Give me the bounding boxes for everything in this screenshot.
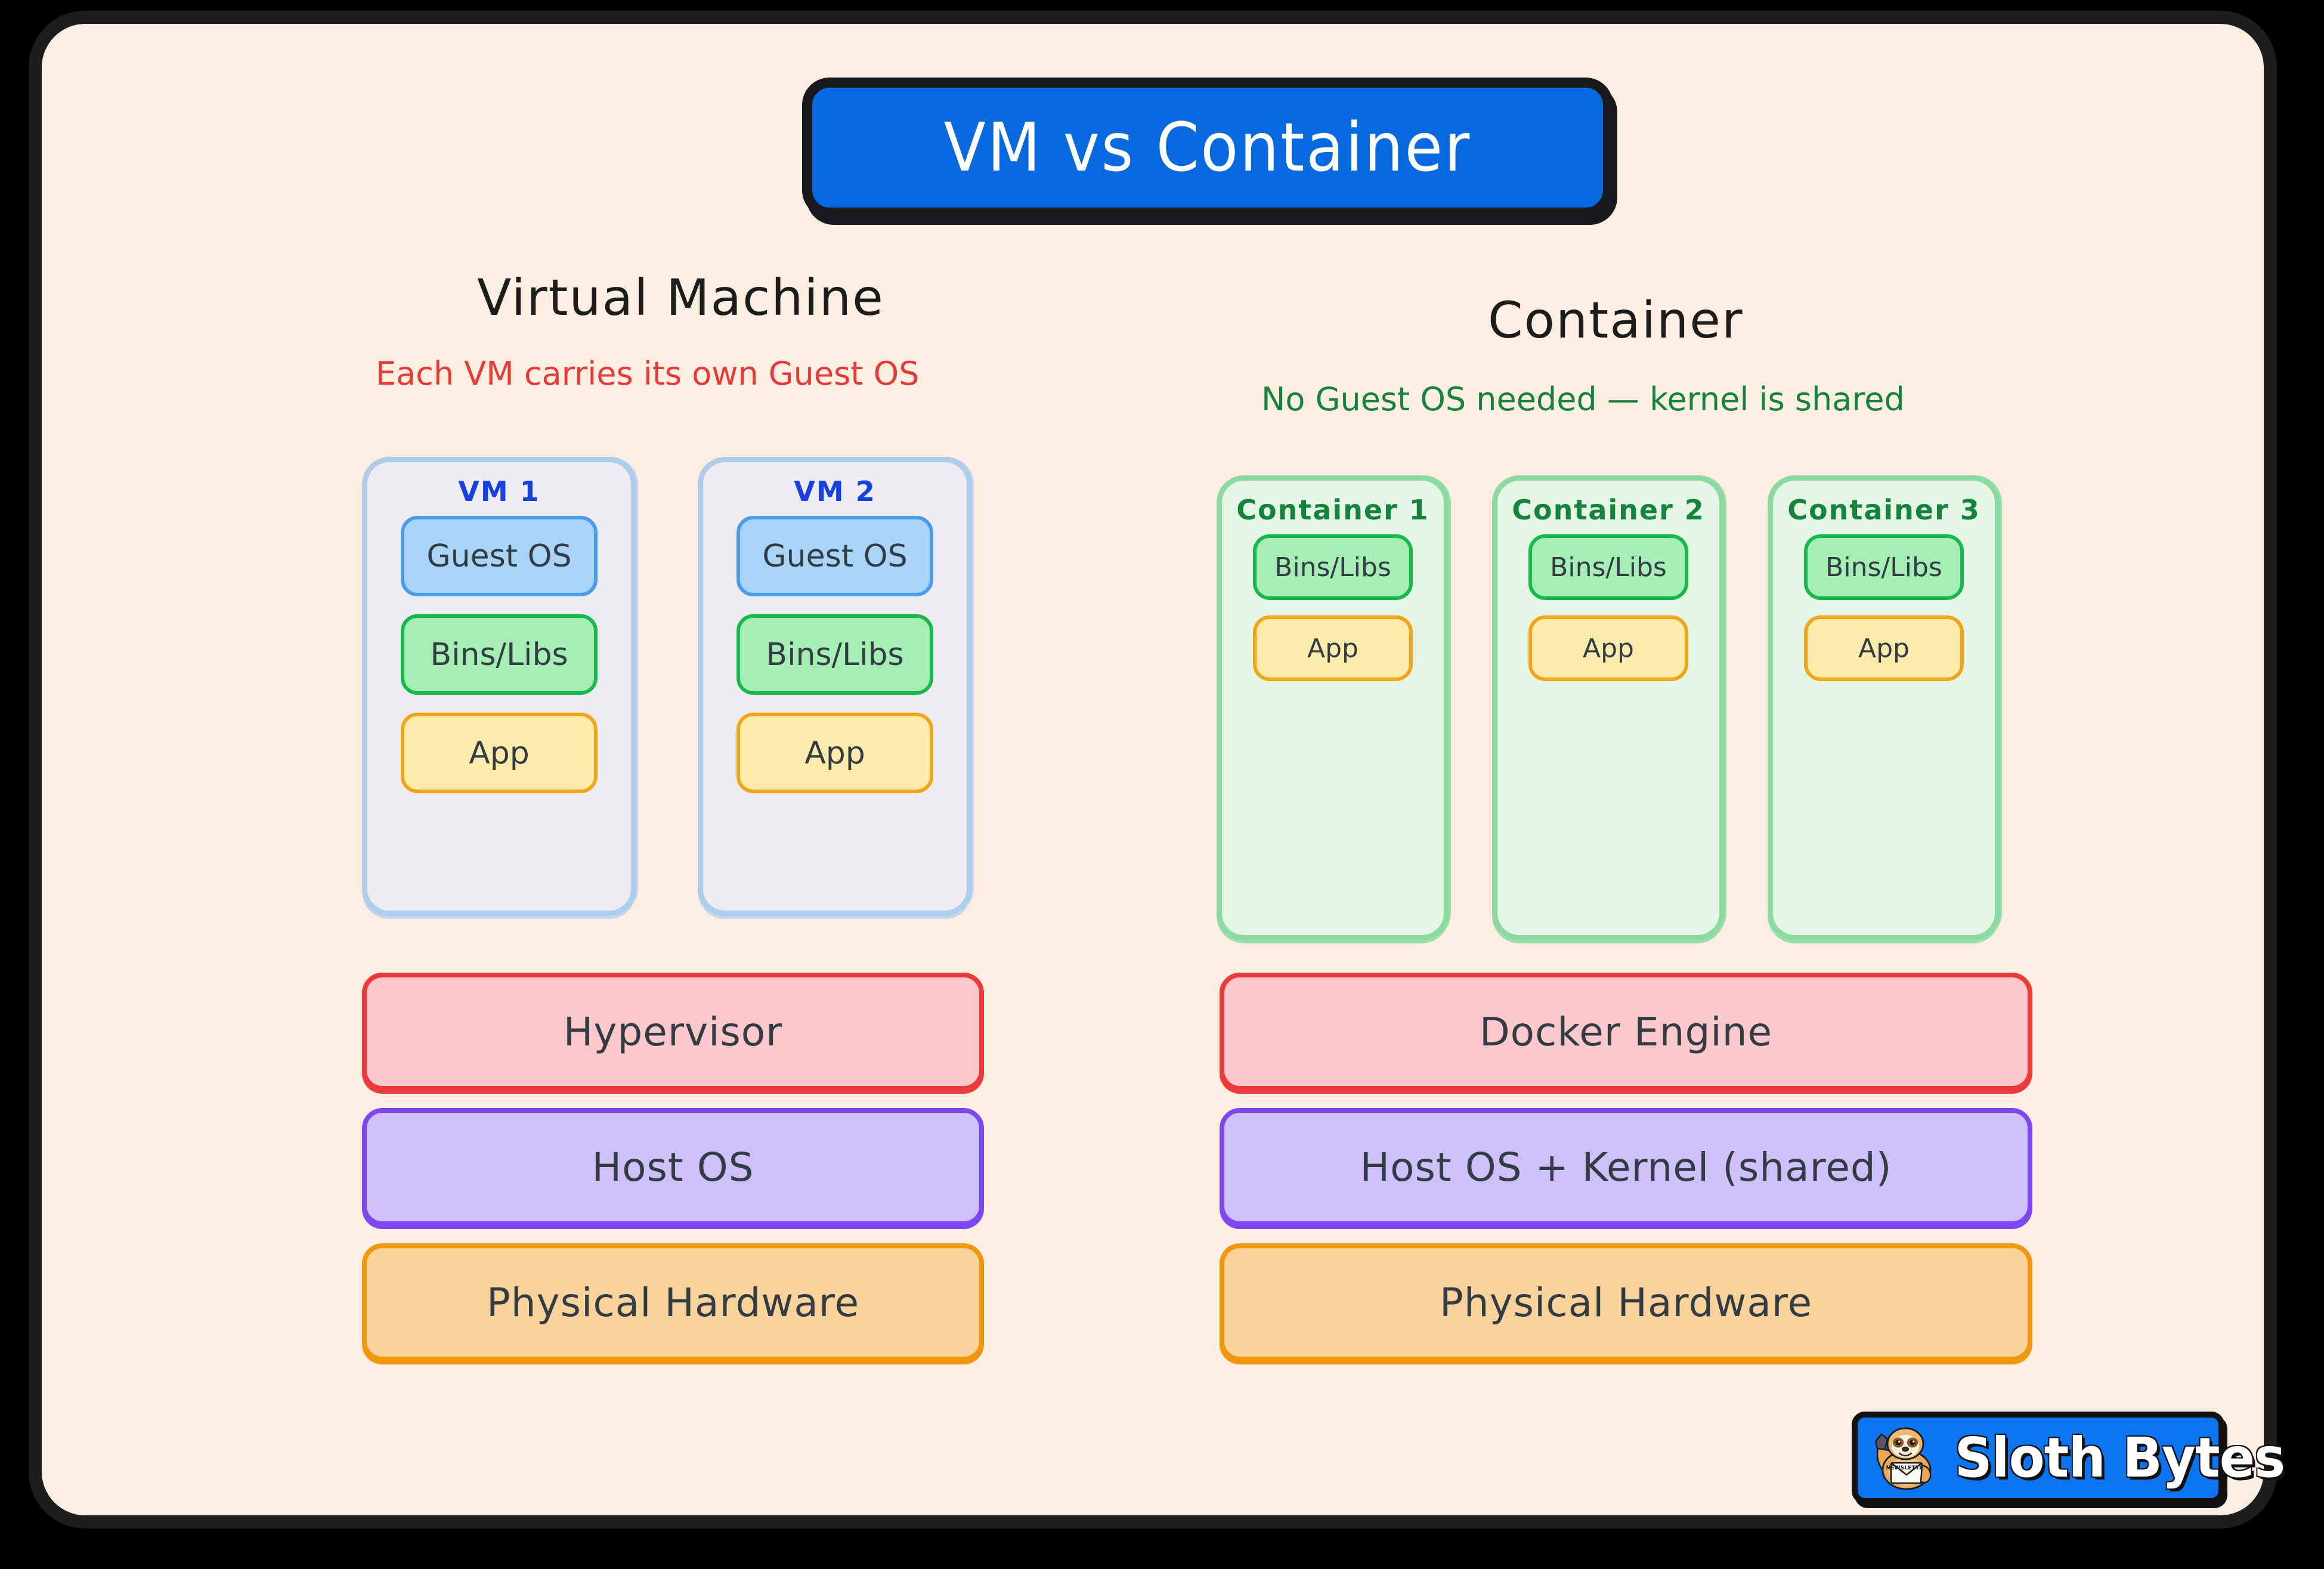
newsletter-envelope-label: NEWSLETTER xyxy=(1886,1465,1927,1471)
container1-card-bins-libs[interactable]: Bins/Libs xyxy=(1253,534,1413,600)
column-subtitle-container: No Guest OS needed — kernel is shared xyxy=(1261,380,1905,418)
container-layer-physical-hardware[interactable]: Physical Hardware xyxy=(1220,1243,2032,1361)
vm1-card-guest-os[interactable]: Guest OS xyxy=(401,516,598,596)
container-layer-host-os-kernel[interactable]: Host OS + Kernel (shared) xyxy=(1220,1108,2032,1226)
container-shell-1-label: Container 1 xyxy=(1236,494,1429,526)
sloth-newsletter-icon: NEWSLETTER xyxy=(1866,1420,1942,1496)
vm-shell-1-label: VM 1 xyxy=(458,475,540,507)
vm-layer-host-os[interactable]: Host OS xyxy=(362,1108,984,1226)
diagram-canvas: VM vs Container Virtual Machine Each VM … xyxy=(29,11,2277,1528)
container2-card-bins-libs[interactable]: Bins/Libs xyxy=(1528,534,1688,600)
column-heading-virtual-machine: Virtual Machine xyxy=(477,268,884,327)
page-title: VM vs Container xyxy=(944,109,1471,187)
vm2-card-app[interactable]: App xyxy=(736,713,933,793)
container-shell-1[interactable]: Container 1 Bins/Libs App xyxy=(1217,475,1449,940)
container1-card-app[interactable]: App xyxy=(1253,615,1413,681)
container-shell-3[interactable]: Container 3 Bins/Libs App xyxy=(1768,475,2000,940)
vm1-card-app[interactable]: App xyxy=(401,713,598,793)
container3-card-bins-libs[interactable]: Bins/Libs xyxy=(1804,534,1964,600)
sloth-bytes-logo-badge[interactable]: NEWSLETTER Sloth Bytes xyxy=(1852,1412,2224,1504)
container-shell-2-label: Container 2 xyxy=(1512,494,1705,526)
container-layer-docker-engine[interactable]: Docker Engine xyxy=(1220,973,2032,1091)
vm-shell-2-label: VM 2 xyxy=(794,475,875,507)
container2-card-app[interactable]: App xyxy=(1528,615,1688,681)
column-subtitle-virtual-machine: Each VM carries its own Guest OS xyxy=(376,355,919,392)
vm2-card-guest-os[interactable]: Guest OS xyxy=(736,516,933,596)
sloth-bytes-logo-text: Sloth Bytes xyxy=(1955,1431,2285,1486)
vm-shell-1[interactable]: VM 1 Guest OS Bins/Libs App xyxy=(362,457,636,916)
vm2-card-bins-libs[interactable]: Bins/Libs xyxy=(736,614,933,695)
column-heading-container: Container xyxy=(1488,291,1743,349)
vm-layer-hypervisor[interactable]: Hypervisor xyxy=(362,973,984,1091)
outer-frame: VM vs Container Virtual Machine Each VM … xyxy=(0,0,2324,1569)
vm-layer-physical-hardware[interactable]: Physical Hardware xyxy=(362,1243,984,1361)
container-shell-3-label: Container 3 xyxy=(1787,494,1980,526)
vm-shell-2[interactable]: VM 2 Guest OS Bins/Libs App xyxy=(698,457,972,916)
container3-card-app[interactable]: App xyxy=(1804,615,1964,681)
vm1-card-bins-libs[interactable]: Bins/Libs xyxy=(401,614,598,695)
container-shell-2[interactable]: Container 2 Bins/Libs App xyxy=(1492,475,1725,940)
title-badge: VM vs Container xyxy=(802,78,1613,218)
